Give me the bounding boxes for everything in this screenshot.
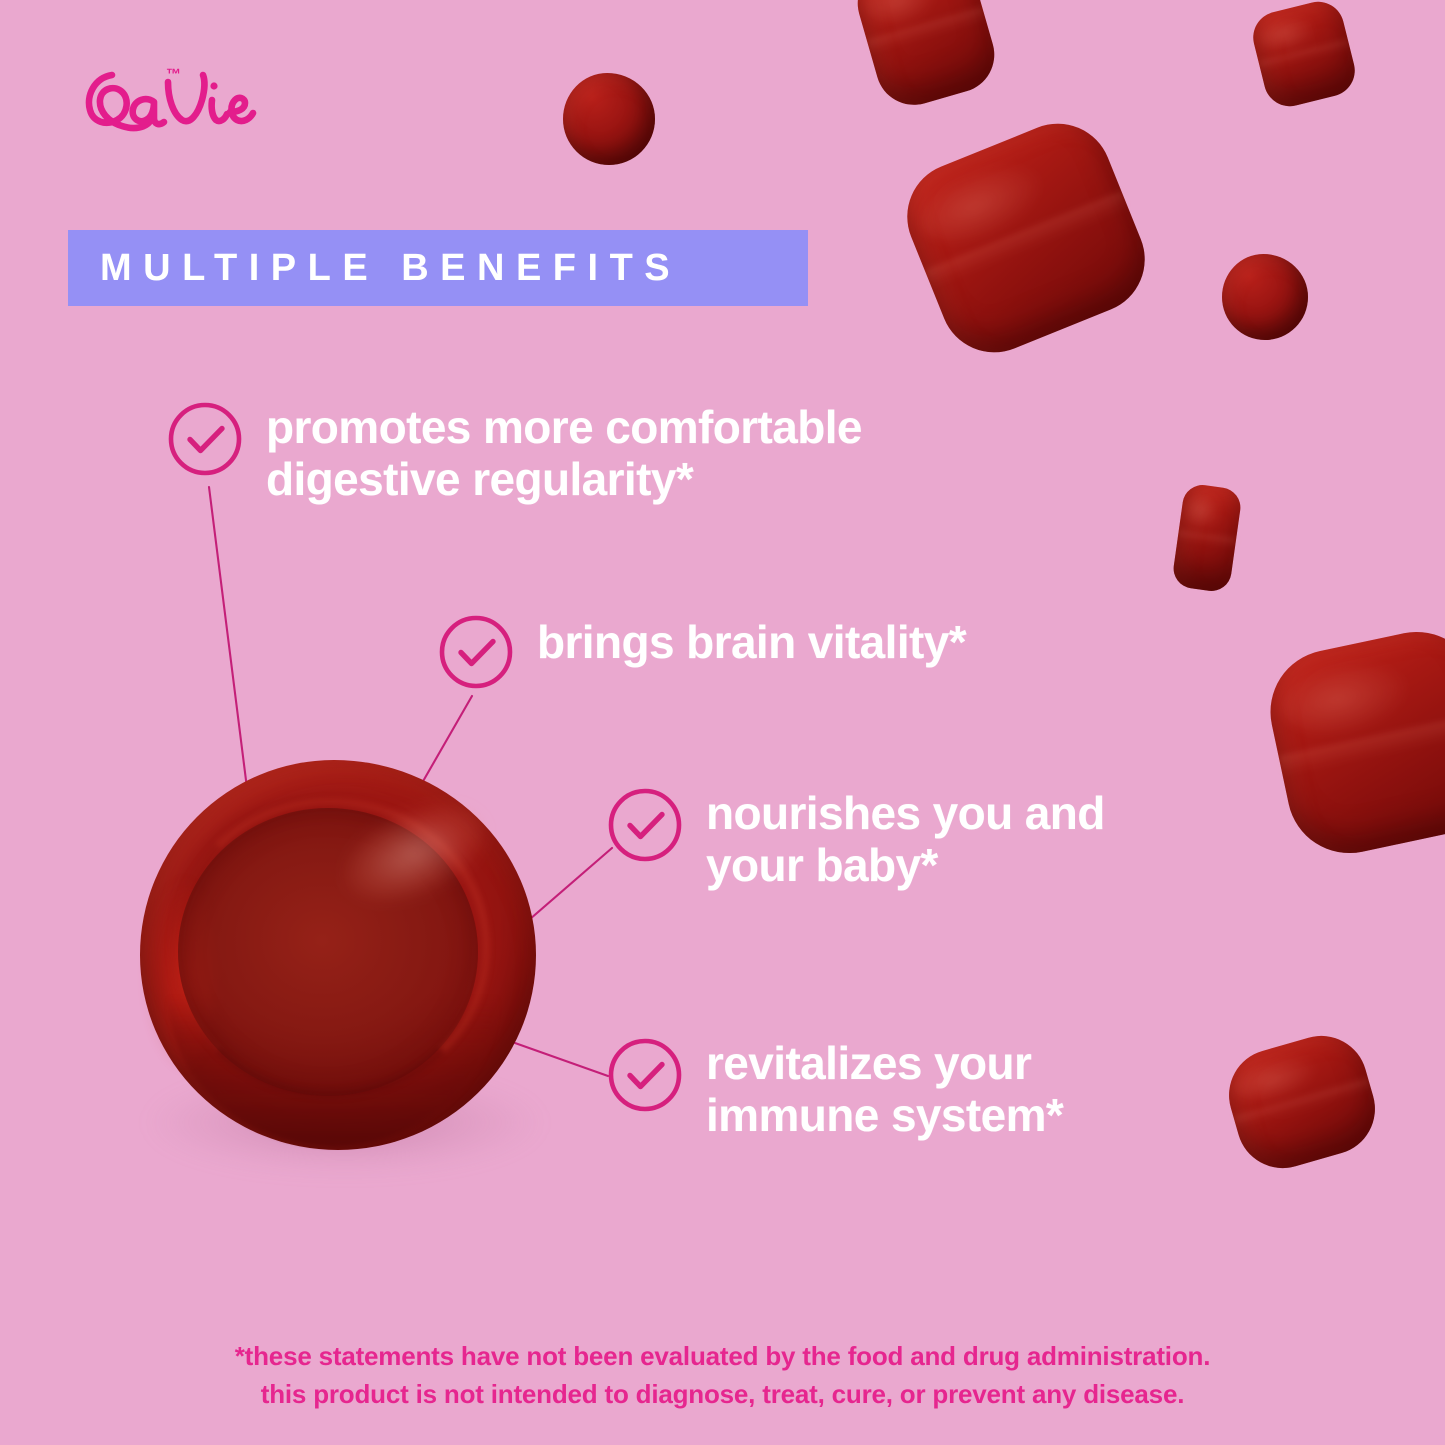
benefit-label: brings brain vitality* (537, 617, 966, 669)
benefit-item: revitalizes your immune system* (606, 1036, 1063, 1141)
floating-gummy (891, 107, 1161, 368)
connector-lines (0, 0, 1445, 1445)
benefit-item: promotes more comfortable digestive regu… (166, 400, 862, 505)
benefit-label: revitalizes your immune system* (706, 1038, 1063, 1141)
benefit-item: nourishes you and your baby* (606, 786, 1105, 891)
floating-gummy (1171, 482, 1243, 593)
check-circle-icon (437, 613, 515, 691)
benefit-label: promotes more comfortable digestive regu… (266, 402, 862, 505)
check-circle-icon (166, 400, 244, 478)
section-banner: MULTIPLE BENEFITS (68, 230, 808, 306)
floating-gummy (1218, 1025, 1386, 1179)
floating-gummy (1248, 0, 1360, 112)
floating-gummy (1222, 254, 1308, 340)
lavie-logo (72, 62, 257, 140)
poster-canvas: ™ MULTIPLE BENEFITS (0, 0, 1445, 1445)
disclaimer-text: *these statements have not been evaluate… (0, 1338, 1445, 1413)
floating-gummy (849, 0, 1003, 114)
hero-gummy-image (132, 752, 552, 1172)
floating-gummy (1259, 620, 1445, 864)
check-circle-icon (606, 1036, 684, 1114)
banner-title: MULTIPLE BENEFITS (68, 249, 681, 287)
check-circle-icon (606, 786, 684, 864)
benefit-item: brings brain vitality* (437, 613, 966, 691)
hero-gummy-body (140, 760, 536, 1150)
trademark-symbol: ™ (166, 66, 181, 83)
benefit-label: nourishes you and your baby* (706, 788, 1105, 891)
floating-gummy (563, 73, 655, 165)
